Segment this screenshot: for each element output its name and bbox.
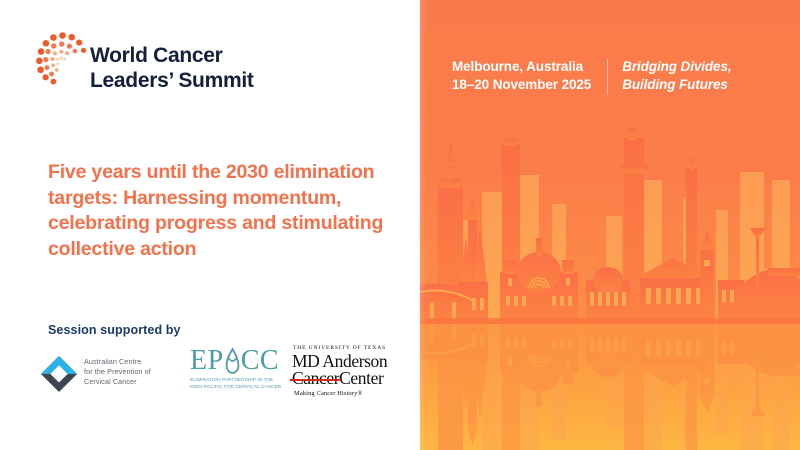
supported-by-label: Session supported by [48,323,181,337]
epicc-tagline: ELIMINATION PARTNERSHIP IN THE INDO-PACI… [190,377,281,391]
wcls-wordmark-line1: World Cancer [90,44,223,67]
mda-center-word: Center [339,368,383,388]
waterline [400,318,800,324]
sponsor-logo-row: Australian Centre for the Prevention of … [40,344,400,408]
reflection-fade [400,324,800,450]
epicc-letters-cc: CC [241,347,279,375]
wcls-logo: World Cancer Leaders’ Summit [32,28,392,108]
epicc-tagline-line2: INDO-PACIFIC FOR CERVICAL CANCER [190,384,281,391]
city-buildings [400,128,800,320]
acpcc-line2: for the Prevention of [84,367,151,377]
acpcc-wordmark: Australian Centre for the Prevention of … [84,357,151,388]
wcls-wordmark-line2: Leaders’ Summit [90,69,254,94]
acpcc-line3: Cervical Cancer [84,377,151,387]
acpcc-diamond-icon [40,355,78,393]
event-location-dates: Melbourne, Australia 18–20 November 2025 [452,58,591,94]
sponsor-logo-acpcc: Australian Centre for the Prevention of … [40,350,185,396]
awareness-ribbon-icon [224,346,241,376]
conference-session-slide: Melbourne, Australia 18–20 November 2025… [0,0,800,450]
event-location: Melbourne, Australia [452,58,591,76]
orange-skyline-panel: Melbourne, Australia 18–20 November 2025… [400,0,800,450]
epicc-letters-ep: EP [190,347,224,375]
melbourne-skyline-silhouette [400,120,800,450]
event-theme-line2: Building Futures [622,76,731,94]
wcls-wordmark: World Cancer Leaders’ Summit [90,44,254,94]
event-theme: Bridging Divides, Building Futures [622,58,731,94]
epicc-tagline-line1: ELIMINATION PARTNERSHIP IN THE [190,377,281,384]
mda-tagline: Making Cancer History® [294,390,363,397]
event-dates: 18–20 November 2025 [452,76,591,94]
left-content-panel: World Cancer Leaders’ Summit Five years … [0,0,420,450]
acpcc-line1: Australian Centre [84,357,151,367]
epicc-wordmark: EP CC [190,346,279,376]
dot-swirl-icon [32,28,92,88]
event-theme-line1: Bridging Divides, [622,58,731,76]
sponsor-logo-md-anderson: THE UNIVERSITY OF TEXAS MD Anderson Canc… [292,344,400,402]
mda-struck-cancer-word: Cancer [292,370,339,388]
mda-cancer-center-line: CancerCenter [292,370,383,388]
sponsor-logo-epicc: EP CC ELIMINATION PARTNERSHIP IN THE IND… [187,346,297,400]
event-divider [607,59,608,95]
event-info: Melbourne, Australia 18–20 November 2025… [452,58,732,95]
session-title: Five years until the 2030 elimination ta… [48,160,393,263]
